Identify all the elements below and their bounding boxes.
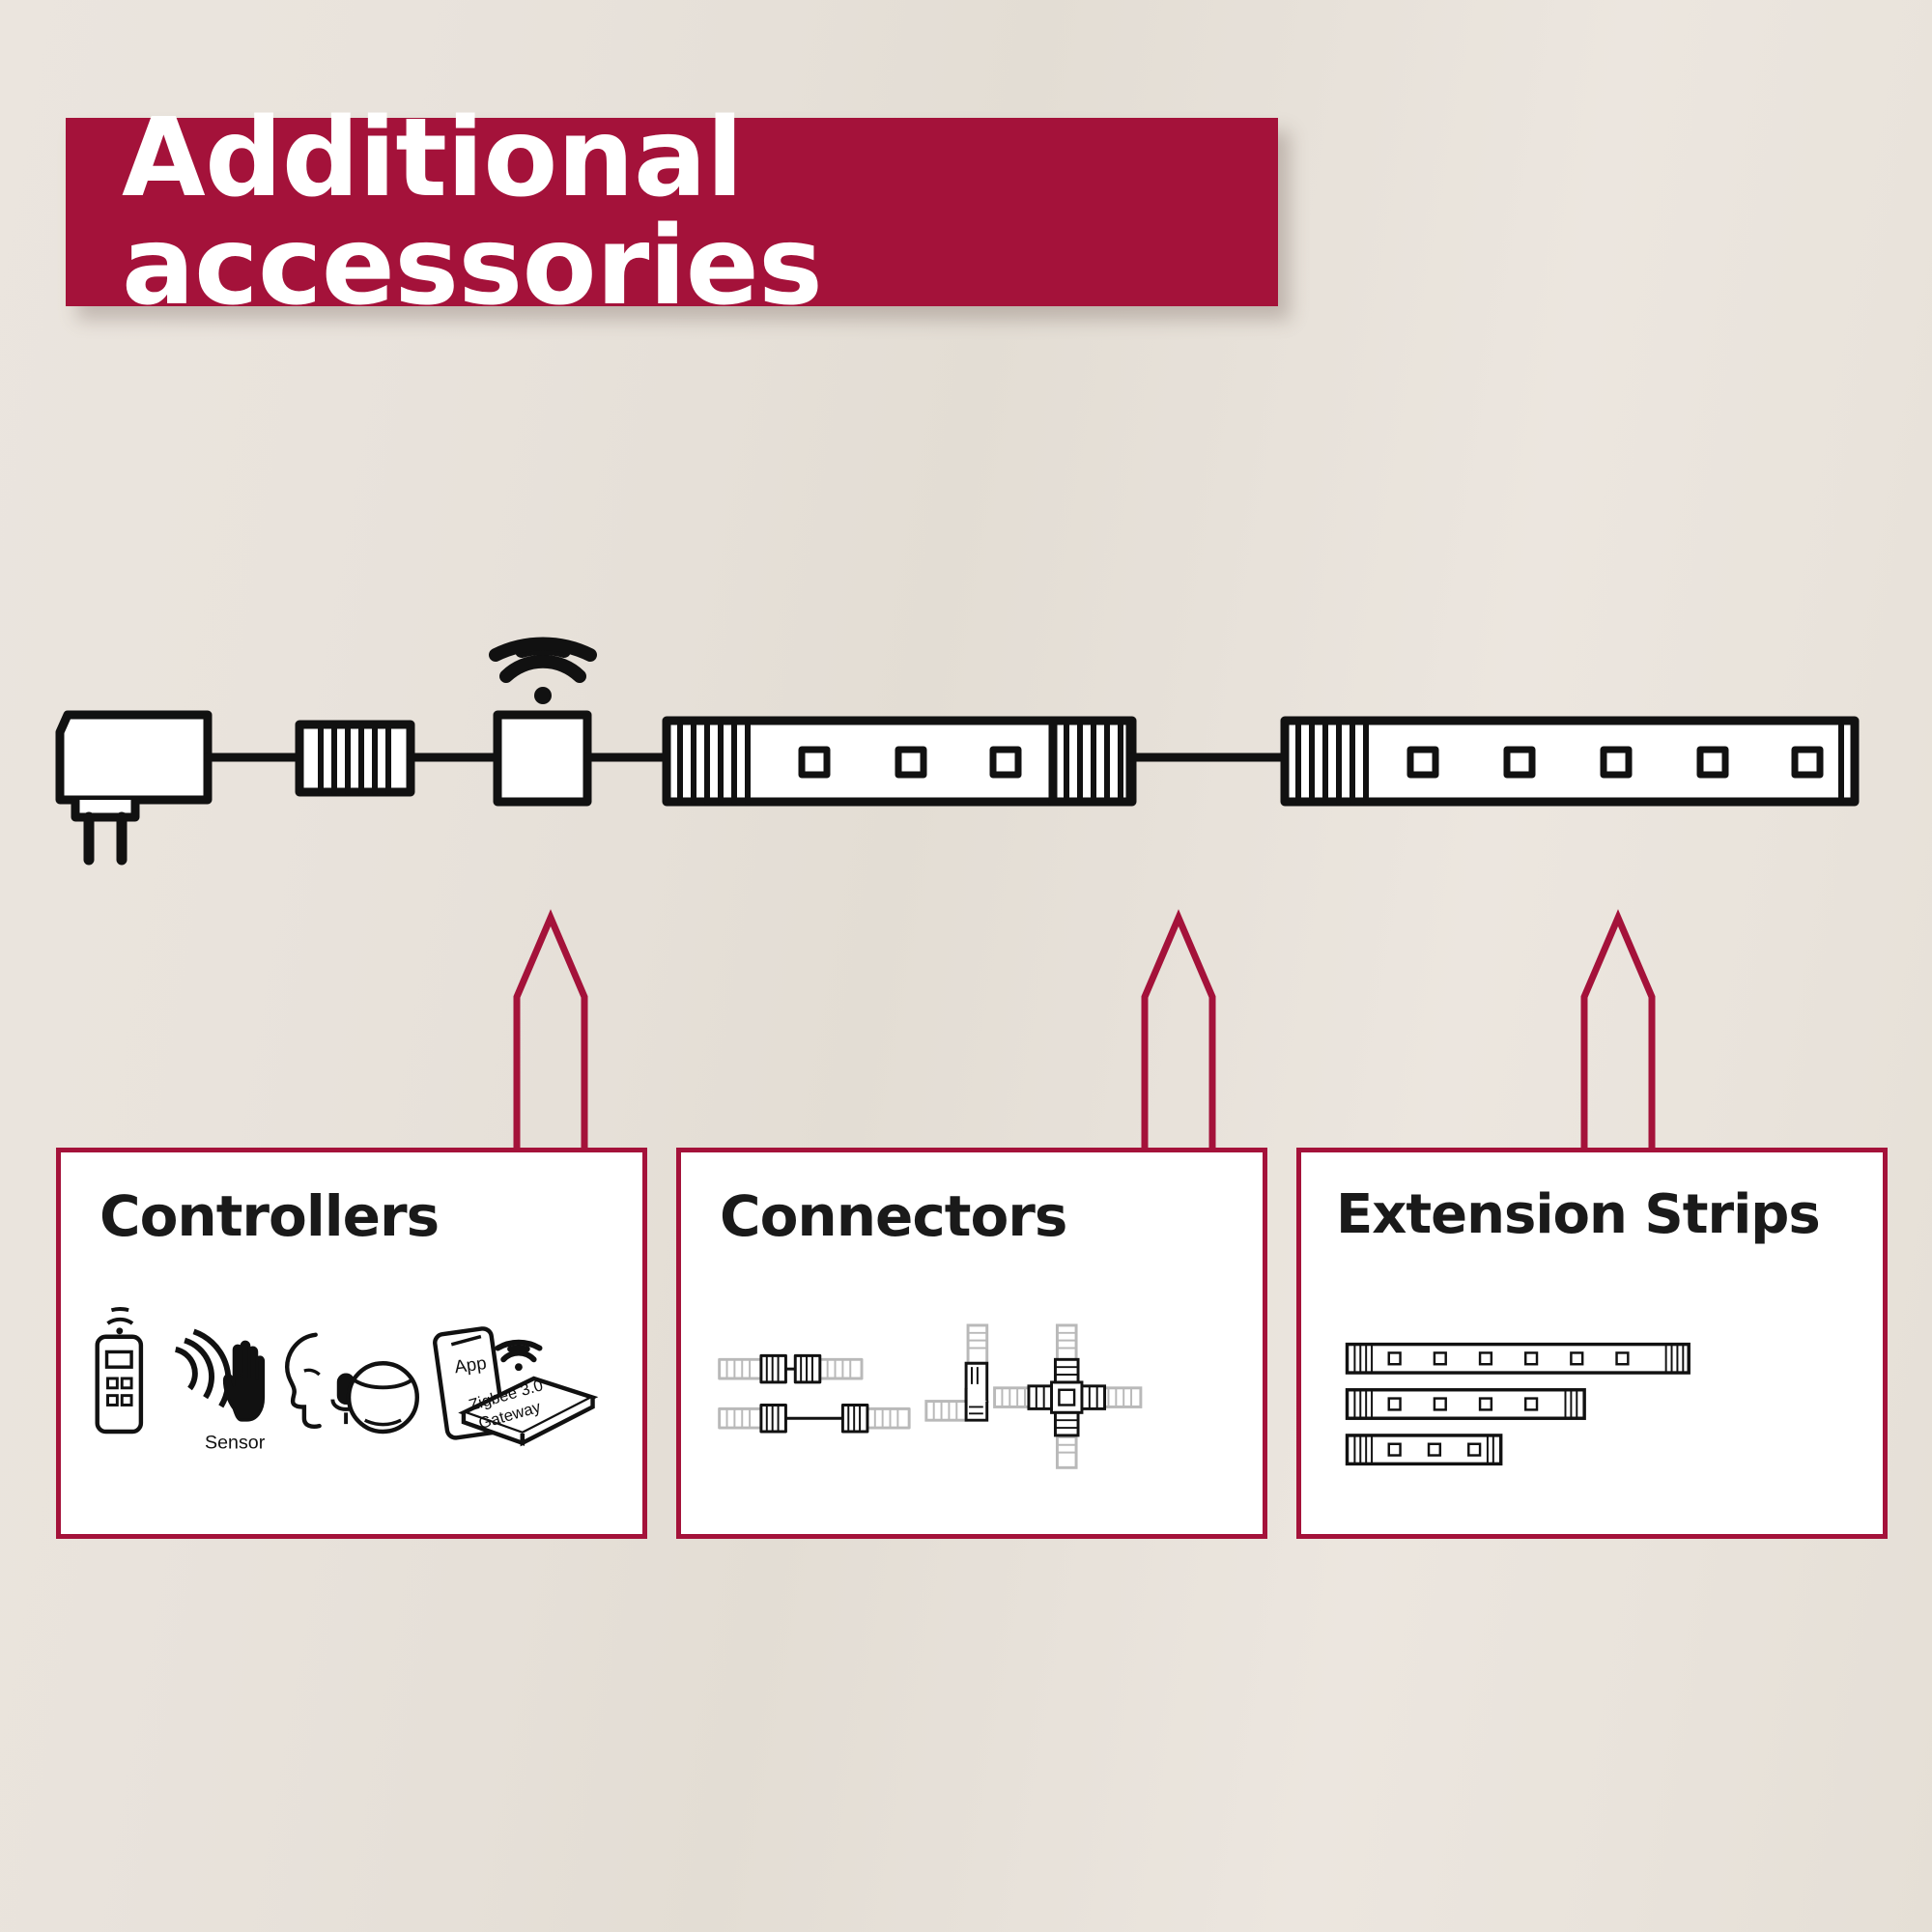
power-supply-icon	[60, 715, 208, 860]
connectors-icon-row	[681, 1268, 1263, 1539]
cross-connector-icon	[995, 1325, 1141, 1467]
poster-canvas: Additional accessories	[0, 0, 1932, 1932]
pointer-connectors	[1145, 918, 1212, 1150]
wifi-icon	[496, 643, 590, 704]
card-title-controllers: Controllers	[99, 1183, 439, 1249]
cable-connector-1-icon	[299, 724, 411, 792]
voice-control-icon	[287, 1335, 417, 1432]
pointer-triangles	[0, 898, 1932, 1150]
extension-strip-long-icon	[1348, 1345, 1690, 1373]
sensor-label: Sensor	[205, 1433, 266, 1454]
wireless-receiver-icon	[497, 715, 587, 802]
led-strip-1-icon	[667, 721, 1132, 802]
card-title-connectors: Connectors	[720, 1183, 1066, 1249]
strip-to-strip-connector-icon	[720, 1355, 909, 1432]
corner-connector-icon	[926, 1325, 987, 1420]
card-extension-strips[interactable]: Extension Strips	[1296, 1148, 1888, 1539]
pointer-controllers	[517, 918, 584, 1150]
led-strip-system-schematic	[0, 618, 1932, 927]
page-title: Additional accessories	[66, 104, 1278, 321]
controllers-icon-row: Sensor App	[61, 1268, 642, 1539]
wifi-icon	[497, 1343, 539, 1371]
motion-sensor-icon	[176, 1325, 264, 1421]
led-strip-2-icon	[1285, 721, 1855, 802]
title-banner: Additional accessories	[66, 118, 1278, 306]
extension-strip-medium-icon	[1348, 1390, 1585, 1418]
card-title-extension-strips: Extension Strips	[1336, 1183, 1820, 1246]
card-controllers[interactable]: Controllers	[56, 1148, 647, 1539]
remote-control-icon	[98, 1309, 141, 1432]
extension-strips-icon-row	[1301, 1268, 1883, 1539]
pointer-extension-strips	[1584, 918, 1652, 1150]
card-connectors[interactable]: Connectors	[676, 1148, 1267, 1539]
extension-strip-short-icon	[1348, 1435, 1501, 1463]
